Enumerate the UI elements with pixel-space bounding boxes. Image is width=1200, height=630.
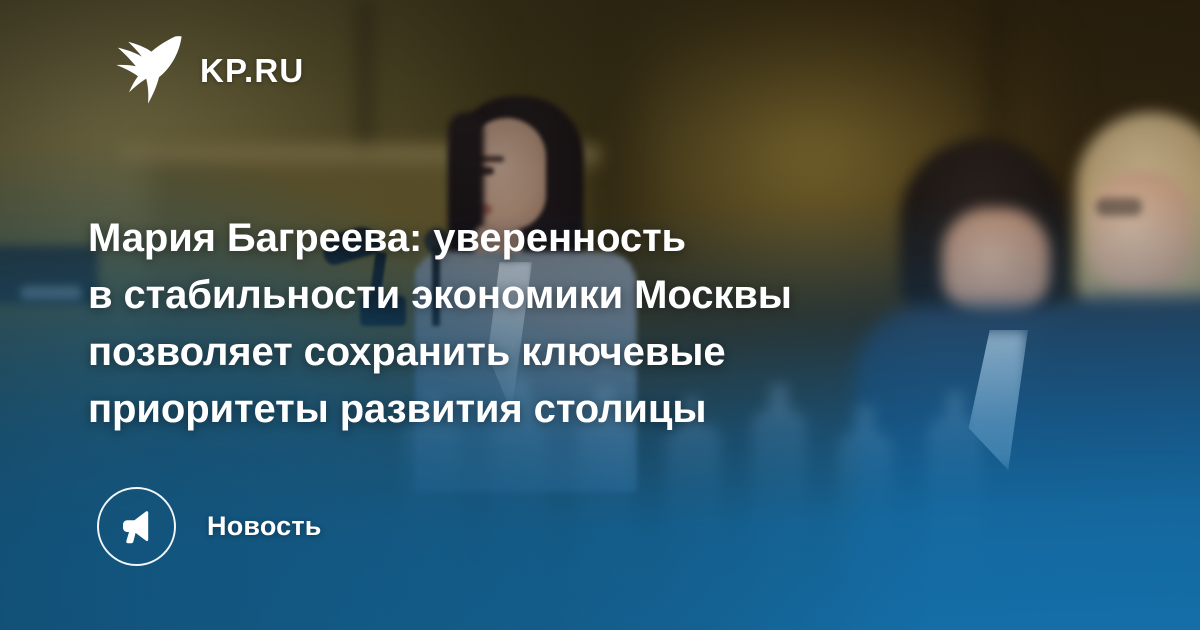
headline-line-4: приоритеты развития столицы (88, 381, 988, 438)
brand-lockup[interactable]: KP.RU (112, 34, 304, 106)
headline-line-1: Мария Багреева: уверенность (88, 210, 988, 267)
social-share-card: KP.RU Мария Багреева: уверенность в стаб… (0, 0, 1200, 630)
page-title: Мария Багреева: уверенность в стабильнос… (88, 210, 988, 438)
status-badge[interactable]: Новость (97, 487, 322, 566)
megaphone-icon (117, 507, 157, 547)
headline-line-3: позволяет сохранить ключевые (88, 324, 988, 381)
badge-circle (97, 487, 176, 566)
headline-line-2: в стабильности экономики Москвы (88, 267, 988, 324)
brand-name: KP.RU (200, 54, 304, 87)
card-content: KP.RU Мария Багреева: уверенность в стаб… (0, 0, 1200, 630)
swallow-bird-icon (112, 34, 182, 106)
badge-label: Новость (207, 511, 322, 542)
